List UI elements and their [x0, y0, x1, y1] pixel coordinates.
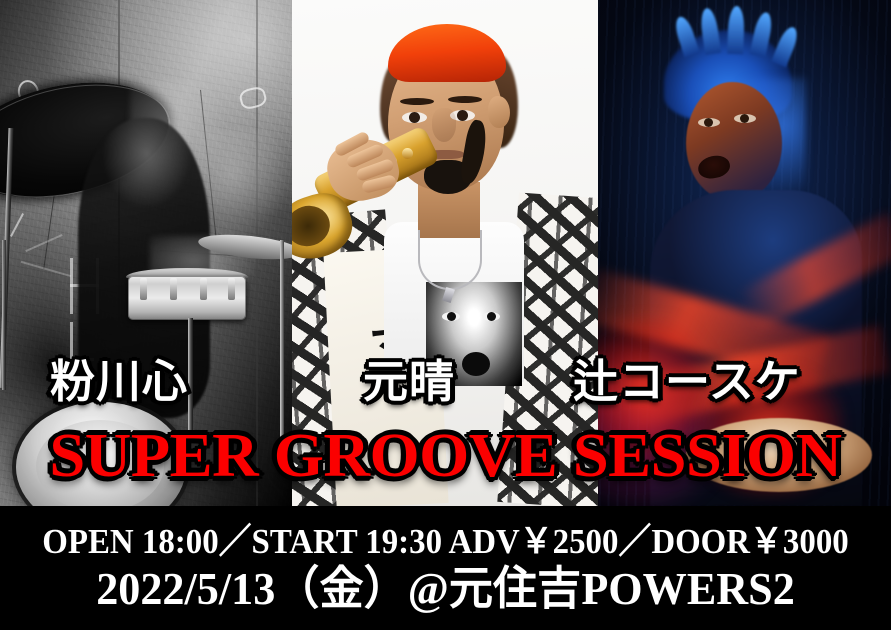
eye-left: [402, 112, 427, 123]
eyebrow-left: [400, 98, 434, 105]
times-and-prices-line: OPEN 18:00／START 19:30 ADV￥2500／DOOR￥300…: [27, 524, 865, 559]
drum-lug: [140, 278, 147, 300]
print-eye-right: [482, 312, 500, 321]
print-eye-left: [442, 312, 460, 321]
hair-spike: [727, 6, 745, 55]
drummer-photo-panel: [0, 0, 292, 506]
drum-lug: [170, 278, 177, 300]
cymbal-stand: [2, 240, 6, 390]
drum-hardware: [280, 240, 284, 450]
concert-flyer: マ: [0, 0, 891, 630]
percussionist-photo-panel: [598, 0, 891, 506]
ear: [488, 96, 510, 128]
drum-lug: [200, 278, 207, 300]
conga-drum-head: [686, 418, 872, 492]
floor-tom-head: [36, 420, 164, 506]
face: [686, 82, 782, 200]
drum-lug: [228, 278, 235, 300]
saxophone-key: [402, 148, 413, 159]
eyebrow-right: [448, 96, 482, 103]
necklace-chain: [418, 230, 482, 290]
print-mouth: [462, 352, 490, 376]
motion-blur-figure: [196, 130, 288, 240]
event-info-block: OPEN 18:00／START 19:30 ADV￥2500／DOOR￥300…: [0, 506, 891, 630]
nose: [432, 108, 456, 142]
date-and-venue-line: 2022/5/13（金）@元住吉POWERS2: [18, 566, 873, 612]
photo-strip: マ: [0, 0, 891, 506]
snare-stand: [188, 318, 193, 438]
eye-right: [734, 114, 756, 123]
saxophonist-photo-panel: マ: [292, 0, 598, 506]
chalk-letter-l: [70, 322, 73, 362]
eye-left: [698, 118, 720, 127]
